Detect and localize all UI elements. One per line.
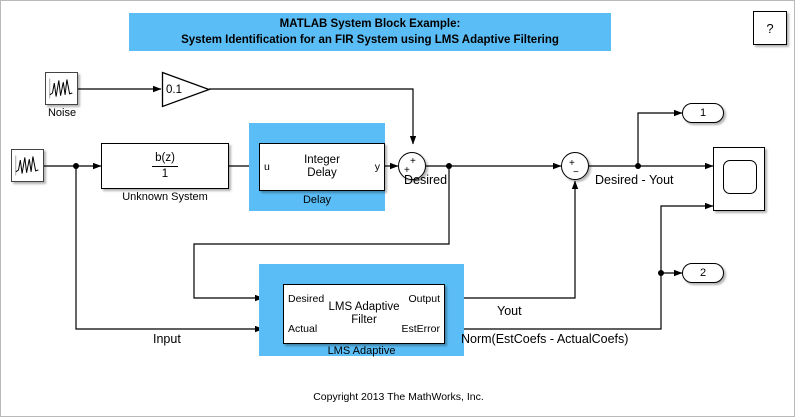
unknown-system-numerator: b(z) xyxy=(152,152,178,165)
signal-label-desired: Desired xyxy=(404,173,447,187)
help-button[interactable]: ? xyxy=(753,11,787,45)
waveform-icon xyxy=(48,75,75,102)
lms-adaptive-filter-block[interactable]: LMS Adaptive Filter Desired Actual Outpu… xyxy=(283,284,445,344)
lms-label-line-1: LMS Adaptive xyxy=(329,301,400,314)
outport-1-label: 1 xyxy=(700,107,706,119)
signal-label-input: Input xyxy=(153,332,181,346)
delay-subsystem-caption: Delay xyxy=(249,194,385,206)
waveform-icon xyxy=(14,152,41,179)
outport-2[interactable]: 2 xyxy=(682,263,724,283)
scope-block[interactable] xyxy=(713,147,765,211)
gain-value: 0.1 xyxy=(166,84,182,96)
noise-source-caption: Noise xyxy=(31,107,93,119)
lms-in-port-desired-label: Desired xyxy=(288,293,324,305)
sum-error-sign-bottom: − xyxy=(573,168,579,178)
title-line-2: System Identification for an FIR System … xyxy=(135,32,605,48)
delay-out-port-label: y xyxy=(375,161,380,173)
noise-source-block[interactable] xyxy=(45,72,78,105)
lms-out-port-output-label: Output xyxy=(408,293,440,305)
simulink-model-canvas[interactable]: MATLAB System Block Example: System Iden… xyxy=(0,0,795,417)
signal-label-desired-minus-yout: Desired - Yout xyxy=(595,173,674,187)
signal-label-norm: Norm(EstCoefs - ActualCoefs) xyxy=(461,332,628,346)
lms-in-port-actual-label: Actual xyxy=(288,323,317,335)
outport-2-label: 2 xyxy=(700,267,706,279)
title-line-1: MATLAB System Block Example: xyxy=(135,16,605,32)
input-source-block[interactable] xyxy=(11,149,44,182)
unknown-system-block[interactable]: b(z) 1 xyxy=(101,143,229,189)
outport-1[interactable]: 1 xyxy=(682,103,724,123)
signal-label-yout: Yout xyxy=(497,304,522,318)
title-banner: MATLAB System Block Example: System Iden… xyxy=(129,13,611,51)
sum-error-block[interactable]: + − xyxy=(561,152,589,180)
lms-subsystem-caption: LMS Adaptive xyxy=(259,345,464,357)
lms-out-port-esterror-label: EstError xyxy=(401,323,440,335)
delay-in-port-label: u xyxy=(264,161,270,173)
fraction-bar xyxy=(152,166,178,167)
scope-screen-icon xyxy=(723,160,757,194)
lms-label-line-2: Filter xyxy=(329,314,400,327)
question-mark-icon: ? xyxy=(766,21,773,36)
delay-label-line-2: Delay xyxy=(304,167,340,180)
unknown-system-denominator: 1 xyxy=(152,168,178,181)
gain-block[interactable]: 0.1 xyxy=(161,71,211,108)
copyright-text: Copyright 2013 The MathWorks, Inc. xyxy=(1,391,795,403)
delay-label-line-1: Integer xyxy=(304,154,340,167)
sum-desired-sign-top: + xyxy=(410,157,416,167)
delay-block[interactable]: Integer Delay u y xyxy=(259,143,385,191)
unknown-system-caption: Unknown System xyxy=(101,191,229,203)
